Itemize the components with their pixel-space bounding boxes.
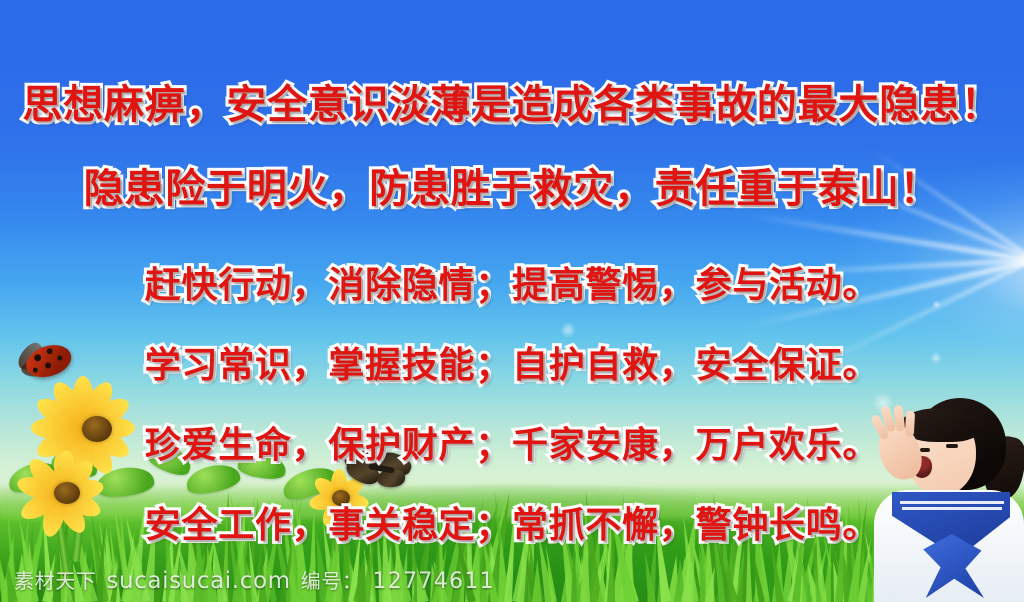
- slogan-2: 学习常识，掌握技能；自护自救，安全保证。: [0, 336, 1024, 388]
- poster-canvas: 思想麻痹，安全意识淡薄是造成各类事故的最大隐患！ 隐患险于明火，防患胜于救灾，责…: [0, 0, 1024, 602]
- slogan-1: 赶快行动，消除隐情；提高警惕，参与活动。: [0, 256, 1024, 308]
- watermark-brand: 素材天下: [14, 565, 96, 594]
- watermark-site: sucaisucai.com: [106, 568, 290, 594]
- slogan-block: 思想麻痹，安全意识淡薄是造成各类事故的最大隐患！ 隐患险于明火，防患胜于救灾，责…: [0, 0, 1024, 602]
- slogan-3: 珍爱生命，保护财产；千家安康，万户欢乐。: [0, 416, 1024, 468]
- watermark: 素材天下 sucaisucai.com 编号： 12774611: [14, 565, 495, 594]
- watermark-id-label: 编号：: [301, 565, 363, 594]
- slogan-4: 安全工作，事关稳定；常抓不懈，警钟长鸣。: [0, 496, 1024, 548]
- watermark-id-number: 12774611: [372, 569, 495, 594]
- headline-1: 思想麻痹，安全意识淡薄是造成各类事故的最大隐患！: [0, 72, 1024, 130]
- headline-2: 隐患险于明火，防患胜于救灾，责任重于泰山！: [0, 156, 1024, 214]
